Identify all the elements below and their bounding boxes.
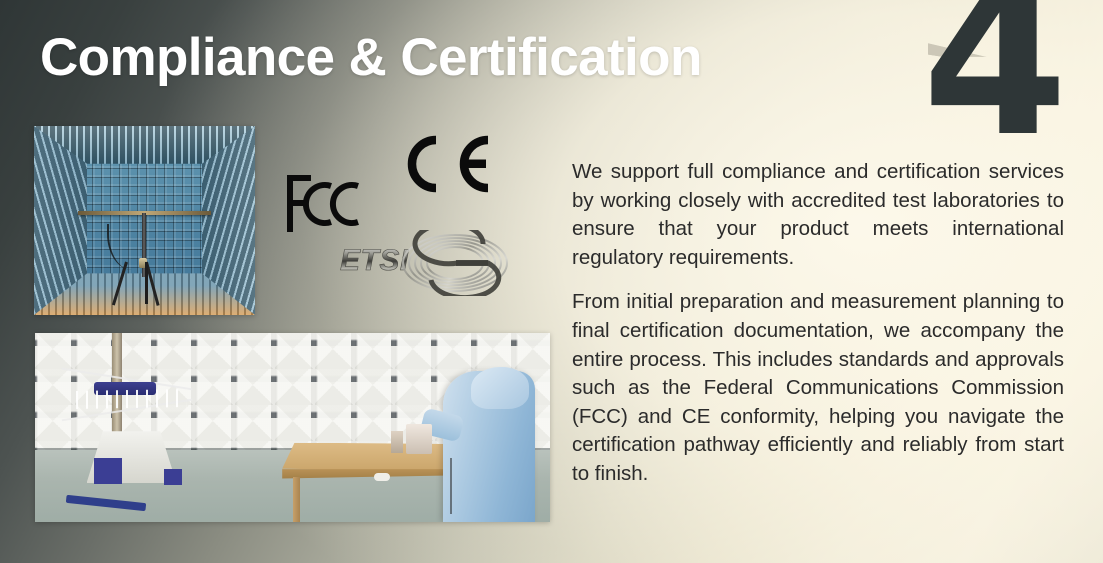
etsi-logo: ETSI: [338, 230, 523, 301]
fcc-logo: [284, 172, 364, 239]
chamber-tripod-leg: [145, 262, 148, 304]
body-text: We support full compliance and certifica…: [572, 158, 1064, 489]
emc-technician-hood: [471, 367, 529, 409]
anechoic-chamber-photo: [34, 126, 255, 315]
svg-text:ETSI: ETSI: [340, 244, 409, 277]
emc-device-under-test: [406, 424, 432, 454]
body-paragraph-1: We support full compliance and certifica…: [572, 158, 1064, 272]
certification-logos: ETSI: [270, 130, 560, 310]
emc-table-leg: [293, 477, 300, 522]
emc-small-device: [374, 473, 390, 481]
emc-test-chamber-photo: [35, 333, 550, 522]
body-paragraph-2: From initial preparation and measurement…: [572, 288, 1064, 488]
emc-device-under-test: [391, 431, 403, 453]
emc-antenna-elements: [76, 389, 186, 409]
slide-number-graphic: 4 4: [928, 0, 1103, 165]
emc-test-cable: [450, 458, 452, 515]
ce-logo: [400, 135, 492, 198]
page-title: Compliance & Certification: [40, 27, 702, 88]
emc-antenna-panel: [94, 458, 122, 484]
slide-root: 4 4 Compliance & Certification: [0, 0, 1103, 563]
emc-antenna-panel: [164, 469, 182, 485]
slide-number: 4: [928, 0, 1062, 165]
